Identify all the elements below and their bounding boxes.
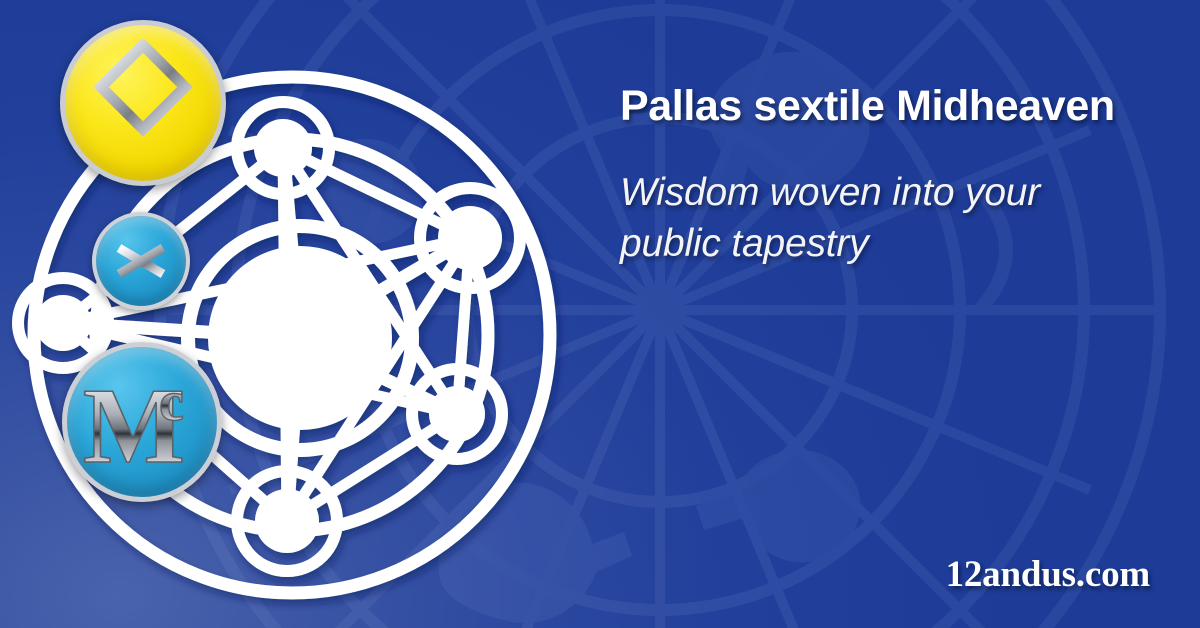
- pallas-planet-badge[interactable]: [60, 20, 226, 186]
- midheaven-point-badge[interactable]: M c: [62, 342, 222, 502]
- page-subtitle: Wisdom woven into your public tapestry: [620, 168, 1140, 269]
- pallas-glyph: [89, 39, 197, 167]
- page-title: Pallas sextile Midheaven: [620, 82, 1165, 130]
- sextile-aspect-badge[interactable]: [92, 212, 190, 310]
- aspect-text-block: Pallas sextile Midheaven Wisdom woven in…: [620, 0, 1165, 628]
- svg-text:c: c: [159, 374, 184, 433]
- astrology-aspect-card: M c Pallas sextile Midheaven Wisdom wove…: [0, 0, 1200, 628]
- subtitle-line-1: Wisdom woven into your: [620, 168, 1140, 219]
- midheaven-mc-glyph: M c: [81, 374, 203, 470]
- subtitle-line-2: public tapestry: [620, 219, 1140, 270]
- sextile-glyph: [112, 232, 170, 290]
- site-url-watermark: 12andus.com: [946, 553, 1150, 596]
